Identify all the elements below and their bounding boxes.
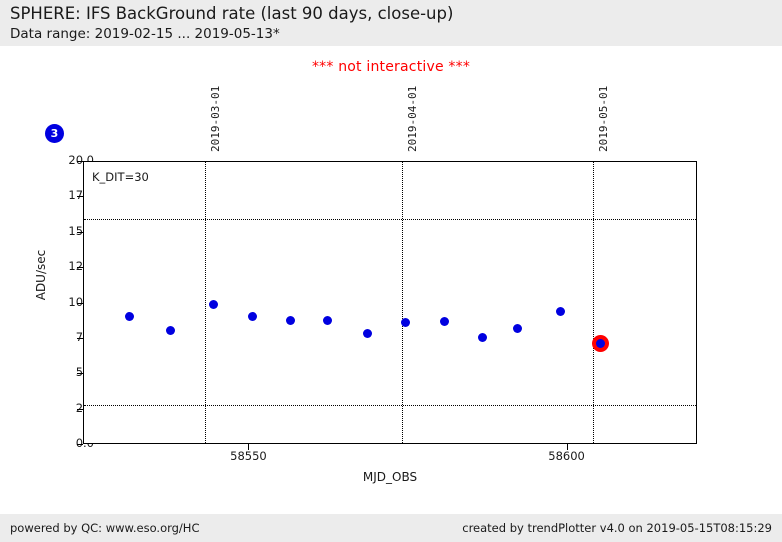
data-point (556, 307, 565, 316)
data-point (440, 317, 449, 326)
horizontal-threshold-line (84, 219, 696, 220)
date-gridline-label: 2019-03-01 (209, 86, 222, 152)
x-axis-label: MJD_OBS (83, 470, 697, 484)
page-title: SPHERE: IFS BackGround rate (last 90 day… (10, 4, 453, 23)
x-tick-mark (248, 444, 249, 450)
data-point-flagged (592, 335, 609, 352)
footer-credit-right: created by trendPlotter v4.0 on 2019-05-… (462, 521, 772, 535)
page-subtitle: Data range: 2019-02-15 ... 2019-05-13* (10, 26, 280, 42)
y-axis-label: ADU/sec (34, 230, 48, 320)
x-tick-mark (567, 444, 568, 450)
kdit-annotation: K_DIT=30 (92, 170, 149, 184)
plot-page: SPHERE: IFS BackGround rate (last 90 day… (0, 0, 782, 542)
data-point (286, 316, 295, 325)
date-gridline-label: 2019-04-01 (406, 86, 419, 152)
date-gridline (593, 162, 594, 443)
not-interactive-notice: *** not interactive *** (0, 59, 782, 75)
x-tick-label: 58600 (527, 449, 607, 463)
date-gridline (402, 162, 403, 443)
data-point (401, 318, 410, 327)
plot-area: K_DIT=30 (83, 161, 697, 444)
data-point (513, 324, 522, 333)
date-gridline-label: 2019-05-01 (597, 86, 610, 152)
x-tick-label: 58550 (208, 449, 288, 463)
horizontal-threshold-line (84, 405, 696, 406)
date-gridline (205, 162, 206, 443)
data-point (363, 329, 372, 338)
data-point (166, 326, 175, 335)
data-point (478, 333, 487, 342)
data-point (125, 312, 134, 321)
series-count-badge: 3 (45, 124, 64, 143)
data-point (209, 300, 218, 309)
data-point (323, 316, 332, 325)
y-tick-mark (77, 444, 83, 445)
data-point (248, 312, 257, 321)
footer-credit-left: powered by QC: www.eso.org/HC (10, 521, 199, 535)
